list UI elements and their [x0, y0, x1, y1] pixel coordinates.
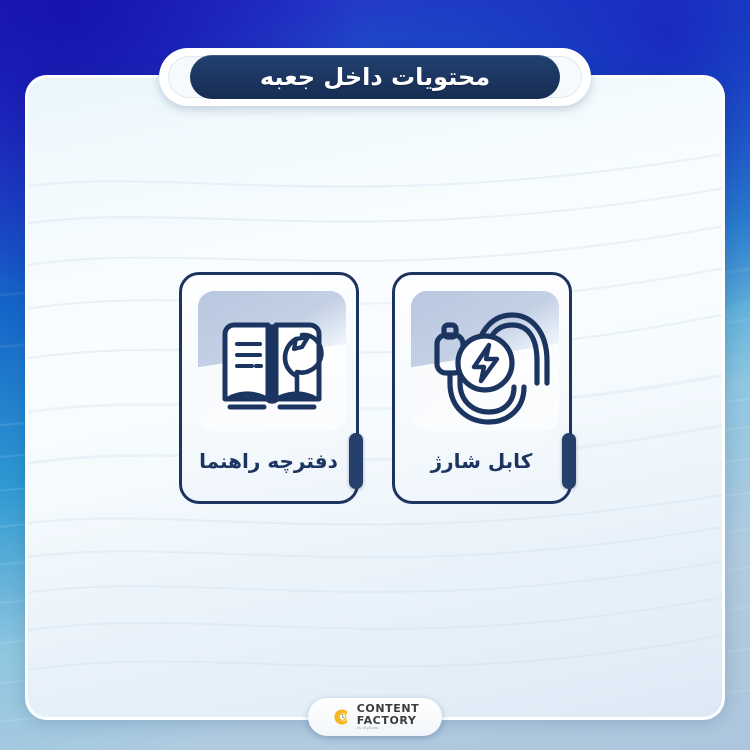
brand-line-1: CONTENT [357, 703, 420, 714]
charging-cable-icon [411, 287, 559, 435]
content-card-charging-cable[interactable]: کابل شارژ [392, 272, 572, 504]
page-title: محتویات داخل جعبه [260, 65, 490, 89]
card-label-manual: دفترچه راهنما [182, 449, 356, 473]
title-pill: محتویات داخل جعبه [190, 55, 560, 99]
card-side-tab [562, 433, 576, 489]
manual-book-wrench-icon [198, 287, 346, 435]
brand-subtitle: by digikala [357, 727, 379, 731]
title-banner: محتویات داخل جعبه [159, 48, 591, 106]
brand-logo-badge[interactable]: CONTENT FACTORY by digikala [308, 698, 442, 736]
box-contents-card-row: کابل شارژ [0, 272, 750, 504]
content-card-manual[interactable]: دفترچه راهنما [179, 272, 359, 504]
card-side-tab [349, 433, 363, 489]
brand-logo-text: CONTENT FACTORY by digikala [357, 703, 420, 730]
content-factory-c-logo [331, 707, 351, 727]
card-label-charging-cable: کابل شارژ [395, 449, 569, 473]
brand-line-2: FACTORY [357, 715, 417, 726]
poster-canvas: محتویات داخل جعبه [0, 0, 750, 750]
